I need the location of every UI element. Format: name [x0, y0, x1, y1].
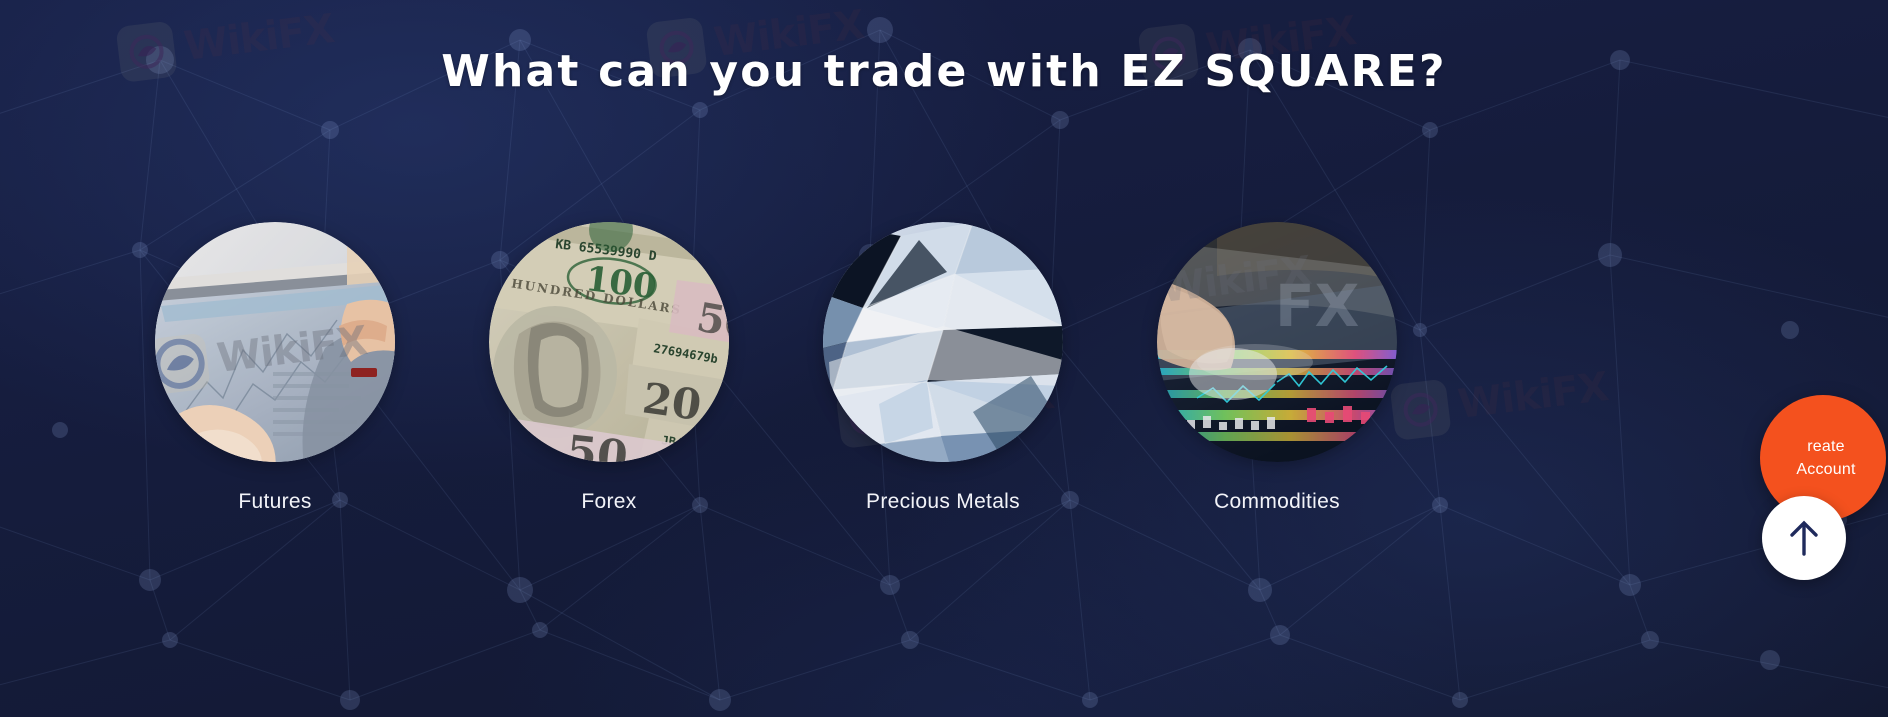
trade-instrument-list: WikiFX Futures	[108, 222, 1444, 522]
precious-metals-image[interactable]	[823, 222, 1063, 462]
page-title: What can you trade with EZ SQUARE?	[441, 46, 1446, 98]
list-item-label: Precious Metals	[866, 490, 1020, 514]
commodities-image[interactable]: FX	[1157, 222, 1397, 462]
list-item[interactable]: FX	[1110, 222, 1444, 522]
forex-image[interactable]: KB 65539990 D 100 HUNDRED DOLLARS	[489, 222, 729, 462]
hand-holding-tablet-with-charts-photo	[155, 222, 395, 462]
arrow-up-icon	[1785, 518, 1823, 558]
list-item-label: Futures	[238, 490, 311, 514]
finger-touching-glowing-trading-screen-photo: FX	[1157, 222, 1397, 462]
us-dollar-banknotes-photo: KB 65539990 D 100 HUNDRED DOLLARS	[489, 222, 729, 462]
cut-diamond-crystal-facets-photo	[823, 222, 1063, 462]
list-item[interactable]: Precious Metals	[776, 222, 1110, 522]
section-heading: What can you trade with EZ SQUARE?	[0, 46, 1888, 98]
create-account-line1: reate	[1807, 435, 1844, 458]
scroll-to-top-button[interactable]	[1762, 496, 1846, 580]
page-background: WikiFX WikiFX WikiFX WikiFX WikiFX What …	[0, 0, 1888, 717]
list-item[interactable]: WikiFX Futures	[108, 222, 442, 522]
list-item[interactable]: KB 65539990 D 100 HUNDRED DOLLARS	[442, 222, 776, 522]
futures-image[interactable]: WikiFX	[155, 222, 395, 462]
list-item-label: Forex	[581, 490, 636, 514]
list-item-label: Commodities	[1214, 490, 1340, 514]
create-account-line2: Account	[1796, 458, 1855, 481]
